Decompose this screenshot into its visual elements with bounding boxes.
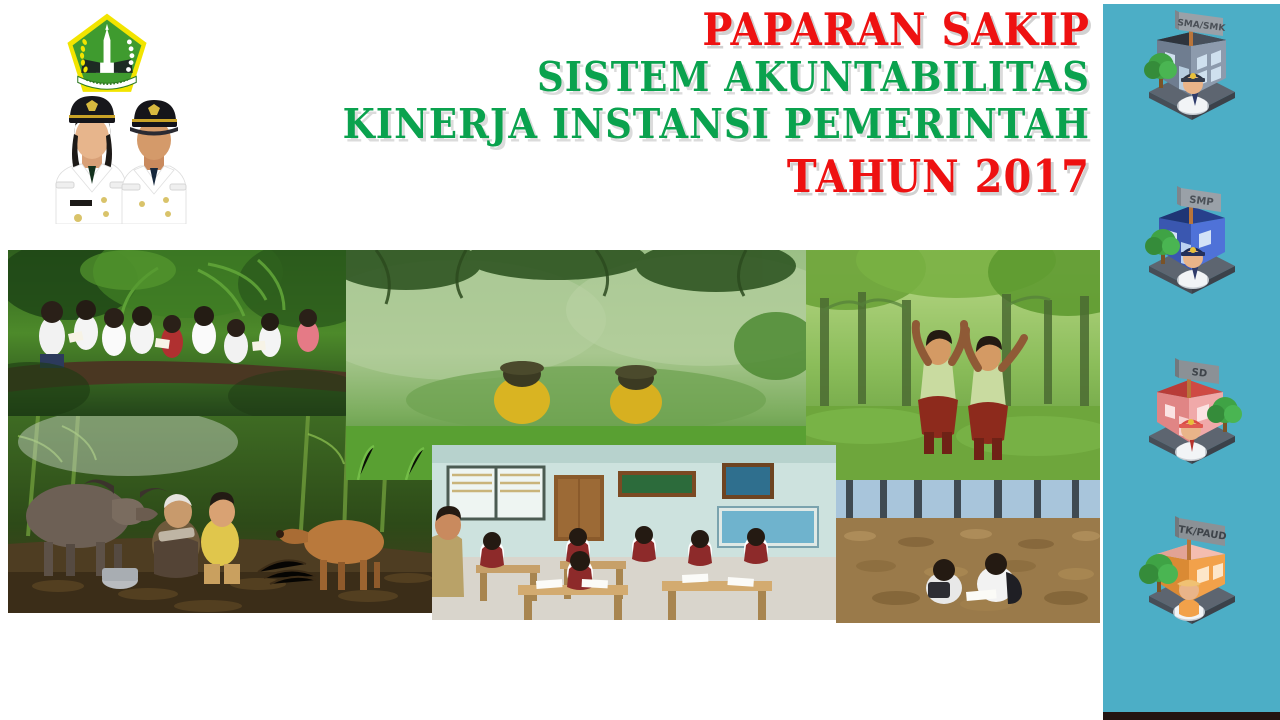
title-line-3: KINERJA INSTANSI PEMERINTAH (330, 104, 1090, 145)
sidebar-item-sd[interactable]: SD (1131, 354, 1253, 476)
regent-and-vice-regent-portrait (26, 74, 191, 224)
sidebar-item-tk-paud[interactable]: TK/PAUD (1131, 514, 1253, 636)
emblem-and-leaders-block (16, 4, 196, 229)
title-line-4: TAHUN 2017 (330, 155, 1090, 200)
sidebar-item-smp[interactable]: SMP (1131, 184, 1253, 306)
slide-title-block: PAPARAN SAKIP SISTEM AKUNTABILITAS KINER… (330, 8, 1090, 195)
photo-children-jumping (806, 250, 1100, 480)
photo-kids-reading-jungle (8, 250, 346, 416)
title-line-2: SISTEM AKUNTABILITAS (330, 57, 1090, 98)
photo-forest-floor-reading (836, 480, 1100, 623)
title-line-1: PAPARAN SAKIP (330, 8, 1090, 53)
sidebar-item-sma-smk[interactable]: SMA/SMK (1131, 10, 1253, 132)
sidebar-sign-label-3: SD (1191, 367, 1208, 380)
right-sidebar-panel: SMA/SMK (1103, 4, 1280, 712)
photo-classroom-lesson (432, 445, 836, 620)
presentation-slide: PAPARAN SAKIP SISTEM AKUNTABILITAS KINER… (0, 0, 1280, 720)
photo-collage (0, 248, 1100, 624)
bottom-accent-bar (1103, 712, 1280, 720)
